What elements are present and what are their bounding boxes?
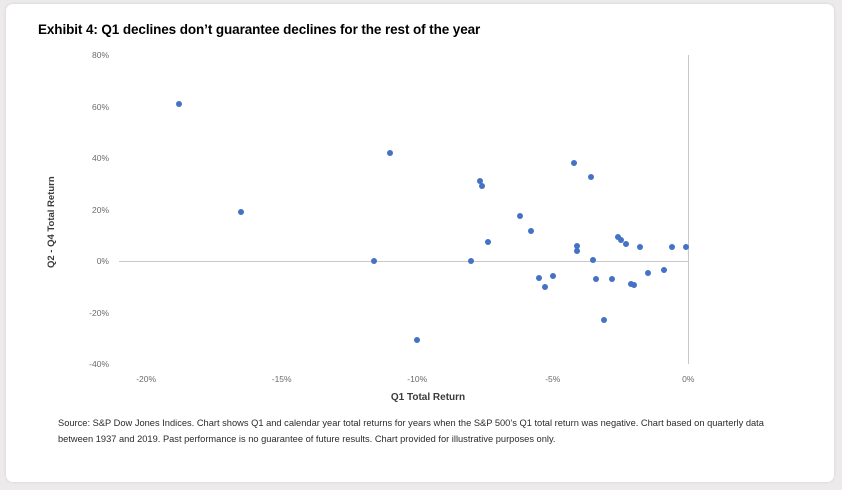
- y-axis-title: Q2 - Q4 Total Return: [46, 176, 57, 268]
- x-tick-label: -5%: [545, 374, 560, 384]
- data-point: [468, 258, 474, 264]
- data-point: [574, 248, 580, 254]
- data-point: [623, 241, 629, 247]
- data-point: [571, 160, 577, 166]
- data-point: [609, 276, 615, 282]
- data-point: [631, 282, 637, 288]
- data-point: [683, 244, 689, 250]
- zero-baseline: [119, 261, 688, 262]
- data-point: [371, 258, 377, 264]
- data-point: [593, 276, 599, 282]
- chart-card: Exhibit 4: Q1 declines don’t guarantee d…: [6, 4, 834, 482]
- data-point: [645, 270, 651, 276]
- data-point: [637, 244, 643, 250]
- data-point: [479, 183, 485, 189]
- y-tick-label: 40%: [57, 153, 109, 163]
- data-point: [661, 267, 667, 273]
- x-tick-label: -10%: [407, 374, 427, 384]
- data-point: [536, 275, 542, 281]
- x-axis-title: Q1 Total Return: [391, 392, 465, 403]
- source-note: Source: S&P Dow Jones Indices. Chart sho…: [58, 416, 770, 447]
- data-point: [550, 273, 556, 279]
- data-point: [601, 317, 607, 323]
- data-point: [588, 174, 594, 180]
- data-point: [414, 337, 420, 343]
- data-point: [387, 150, 393, 156]
- scatter-plot: -40%-20%0%20%40%60%80% -20%-15%-10%-5%0%…: [6, 4, 834, 482]
- y-tick-label: 0%: [57, 256, 109, 266]
- data-point: [542, 284, 548, 290]
- data-point: [528, 228, 534, 234]
- x-tick-label: 0%: [682, 374, 694, 384]
- y-tick-label: -20%: [57, 308, 109, 318]
- data-point: [590, 257, 596, 263]
- x-tick-label: -15%: [272, 374, 292, 384]
- x-tick-label: -20%: [136, 374, 156, 384]
- data-point: [517, 213, 523, 219]
- data-point: [238, 209, 244, 215]
- data-point: [485, 239, 491, 245]
- y-tick-label: -40%: [57, 359, 109, 369]
- y-tick-label: 60%: [57, 102, 109, 112]
- data-point: [176, 101, 182, 107]
- y-tick-label: 20%: [57, 205, 109, 215]
- data-point: [669, 244, 675, 250]
- y-axis-line: [688, 55, 689, 364]
- y-tick-label: 80%: [57, 50, 109, 60]
